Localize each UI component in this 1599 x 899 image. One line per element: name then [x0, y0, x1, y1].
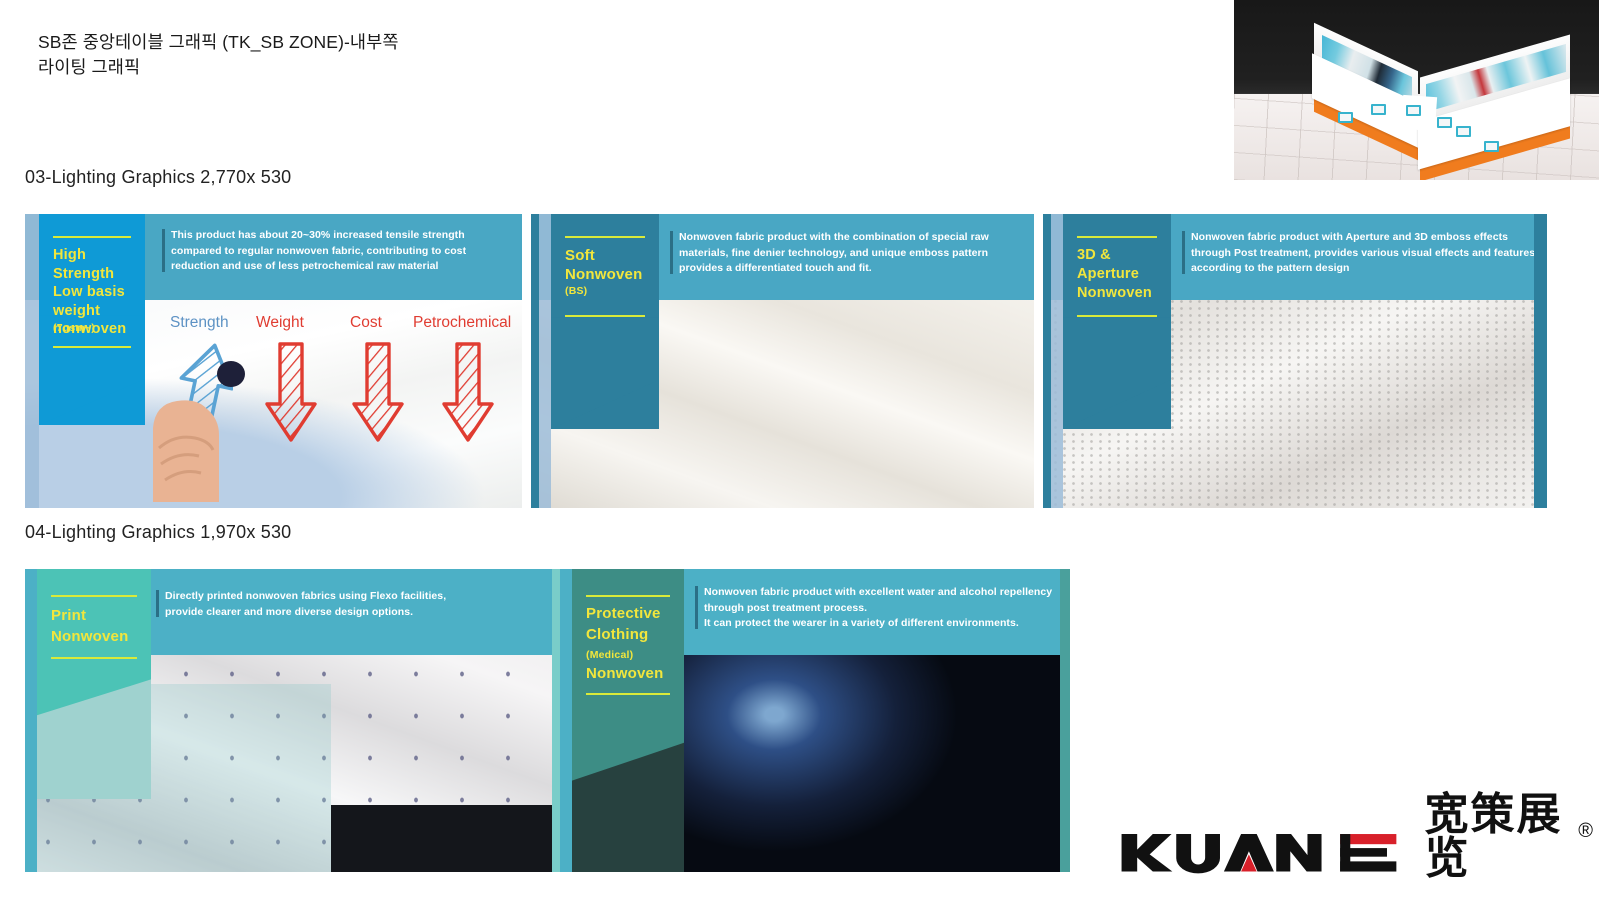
hand-with-marker [145, 352, 265, 502]
panel-right-edge [1534, 214, 1547, 508]
render-sample-pad [1406, 105, 1421, 116]
panel-description: Directly printed nonwoven fabrics using … [165, 589, 505, 620]
arrow-label-cost: Cost [350, 314, 382, 332]
tab-rule-bottom [565, 315, 645, 317]
page-title: SB존 중앙테이블 그래픽 (TK_SB ZONE)-내부쪽 라이팅 그래픽 [38, 30, 399, 80]
tab-rule-bottom [586, 693, 670, 695]
panel-label-protective-clothing: Protective Clothing (Medical) Nonwoven [572, 569, 684, 872]
kuance-logo: 宽策展览 ® [1120, 795, 1599, 883]
panel-description: This product has about 20~30% increased … [171, 228, 501, 275]
panel-divider-2 [1043, 214, 1051, 508]
section-caption-03: 03-Lighting Graphics 2,770x 530 [25, 167, 291, 188]
arrow-label-weight: Weight [256, 314, 304, 332]
panel-left-edge [560, 569, 572, 872]
tab-subtitle: (Medical) [586, 649, 678, 661]
kuance-e-mark-icon [1337, 821, 1409, 883]
arrow-down-petrochemical-icon [442, 340, 494, 444]
panel-gap-2 [1034, 214, 1043, 508]
kuance-wordmark-icon [1120, 821, 1325, 883]
tab-title: 3D & Aperture Nonwoven [1077, 246, 1165, 303]
panel-label-high-strength: High Strength Low basis weight nonwoven … [39, 214, 145, 425]
tab-rule-top [565, 236, 645, 238]
panel-gap-1 [522, 214, 531, 508]
tab-title-secondary: Nonwoven [586, 665, 678, 682]
panel-left-edge [1051, 214, 1063, 508]
tab-rule-bottom [53, 346, 131, 348]
lighting-graphics-04: Directly printed nonwoven fabrics using … [25, 569, 1070, 872]
arrow-label-strength: Strength [170, 314, 229, 332]
render-sample-pad [1371, 104, 1386, 115]
exhibition-booth-render [1234, 0, 1599, 180]
tab-rule-bottom [51, 657, 137, 659]
panel-right-edge [1060, 569, 1070, 872]
render-sample-pad [1437, 117, 1452, 128]
panel-label-print-nonwoven: Print Nonwoven [37, 569, 151, 799]
tab-subtitle: (BS) [565, 285, 653, 297]
arrow-down-weight-icon [265, 340, 317, 444]
tab-rule-top [1077, 236, 1157, 238]
panel-left-edge [25, 214, 39, 508]
tab-title-primary: Protective Clothing [586, 603, 678, 645]
lighting-graphics-03: This product has about 20~30% increased … [25, 214, 1547, 508]
tab-rule-top [51, 595, 137, 597]
arrow-label-petrochemical: Petrochemical [413, 314, 511, 332]
tab-rule-top [53, 236, 131, 238]
panel-soft-nonwoven: Nonwoven fabric product with the combina… [539, 214, 1034, 508]
panel-print-nonwoven: Directly printed nonwoven fabrics using … [25, 569, 552, 872]
panel-3d-aperture: Nonwoven fabric product with Aperture an… [1051, 214, 1547, 508]
panel-left-edge [539, 214, 551, 508]
panel-description: Nonwoven fabric product with excellent w… [704, 585, 1054, 632]
panel-divider-1 [531, 214, 539, 508]
tab-title: Print Nonwoven [51, 605, 145, 647]
tab-subtitle: (7gsm~) [53, 322, 139, 334]
arrow-down-cost-icon [352, 340, 404, 444]
kuance-cjk-name: 宽策展览 [1425, 793, 1569, 881]
panel-high-strength: This product has about 20~30% increased … [25, 214, 522, 508]
section-caption-04: 04-Lighting Graphics 1,970x 530 [25, 522, 291, 543]
render-sample-pad [1484, 141, 1499, 152]
photo-dark-corner [331, 805, 552, 872]
panel-protective-clothing: Nonwoven fabric product with excellent w… [560, 569, 1070, 872]
render-sample-pad [1338, 112, 1353, 123]
tab-rule-bottom [1077, 315, 1157, 317]
panel-label-soft-nonwoven: Soft Nonwoven (BS) [551, 214, 659, 429]
panel-description: Nonwoven fabric product with Aperture an… [1191, 230, 1541, 277]
tab-rule-top [586, 595, 670, 597]
tab-title: Soft Nonwoven [565, 246, 653, 284]
panel-label-3d-aperture: 3D & Aperture Nonwoven [1063, 214, 1171, 429]
panel-description: Nonwoven fabric product with the combina… [679, 230, 1029, 277]
render-sample-pad [1456, 126, 1471, 137]
panel-left-edge [25, 569, 37, 872]
registered-trademark-icon: ® [1578, 820, 1593, 843]
panel-divider-3 [552, 569, 560, 872]
